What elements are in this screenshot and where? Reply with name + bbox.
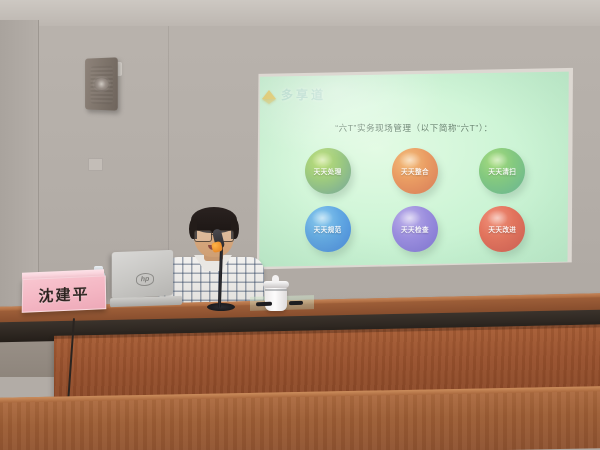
- projected-slide: 多享道 “六T”实务现场管理（以下简称“六T”）： 天天处理 天天整合 天天清扫…: [258, 70, 570, 268]
- presenter-remote[interactable]: [256, 302, 272, 307]
- mug-lid: [263, 281, 289, 288]
- glasses-left-lens: [194, 230, 212, 242]
- slide-bubble: 天天规范: [305, 206, 351, 252]
- bubble-label: 天天检查: [401, 224, 429, 234]
- nameplate-text: 沈建平: [38, 283, 89, 306]
- bubble-label: 天天处理: [314, 166, 342, 176]
- ceiling-strip: [0, 0, 600, 26]
- bubble-label: 天天规范: [314, 224, 342, 234]
- desk-remote-secondary[interactable]: [289, 301, 303, 305]
- slide-bubble: 天天改进: [479, 206, 525, 252]
- slide-bubble: 天天检查: [392, 206, 438, 252]
- slide-header-title: 多享道: [281, 86, 326, 103]
- slide-bubble-grid: 天天处理 天天整合 天天清扫 天天规范 天天检查 天天改进: [284, 148, 546, 252]
- projector-hotspot: [258, 70, 445, 159]
- coffee-mug[interactable]: [265, 287, 287, 311]
- projection-screen: 多享道 “六T”实务现场管理（以下简称“六T”）： 天天处理 天天整合 天天清扫…: [255, 62, 573, 274]
- wall-left-panel: [0, 20, 39, 310]
- bubble-label: 天天改进: [488, 224, 516, 234]
- laptop-base: [110, 296, 182, 308]
- wall-outlet: [88, 158, 103, 171]
- bubble-label: 天天清扫: [488, 166, 516, 176]
- slide-header: 多享道: [262, 85, 326, 103]
- bubble-label: 天天整合: [401, 166, 429, 176]
- microphone-base: [207, 303, 235, 311]
- speaker-cone: [94, 78, 108, 90]
- laptop[interactable]: hp: [112, 251, 180, 309]
- nameplate: 沈建平: [22, 275, 107, 312]
- slide-bubble: 天天清扫: [479, 148, 525, 194]
- mug-knob: [272, 275, 279, 282]
- slide-bubble: 天天整合: [392, 148, 438, 194]
- slide-subtitle: “六T”实务现场管理（以下简称“六T”）：: [258, 122, 570, 134]
- front-desk: [0, 386, 600, 450]
- slide-bubble: 天天处理: [305, 148, 351, 194]
- wall-speaker-icon: [85, 57, 118, 110]
- mug-band: [265, 289, 287, 291]
- photo-scene: 多享道 “六T”实务现场管理（以下简称“六T”）： 天天处理 天天整合 天天清扫…: [0, 0, 600, 450]
- triangle-logo-icon: [262, 90, 276, 99]
